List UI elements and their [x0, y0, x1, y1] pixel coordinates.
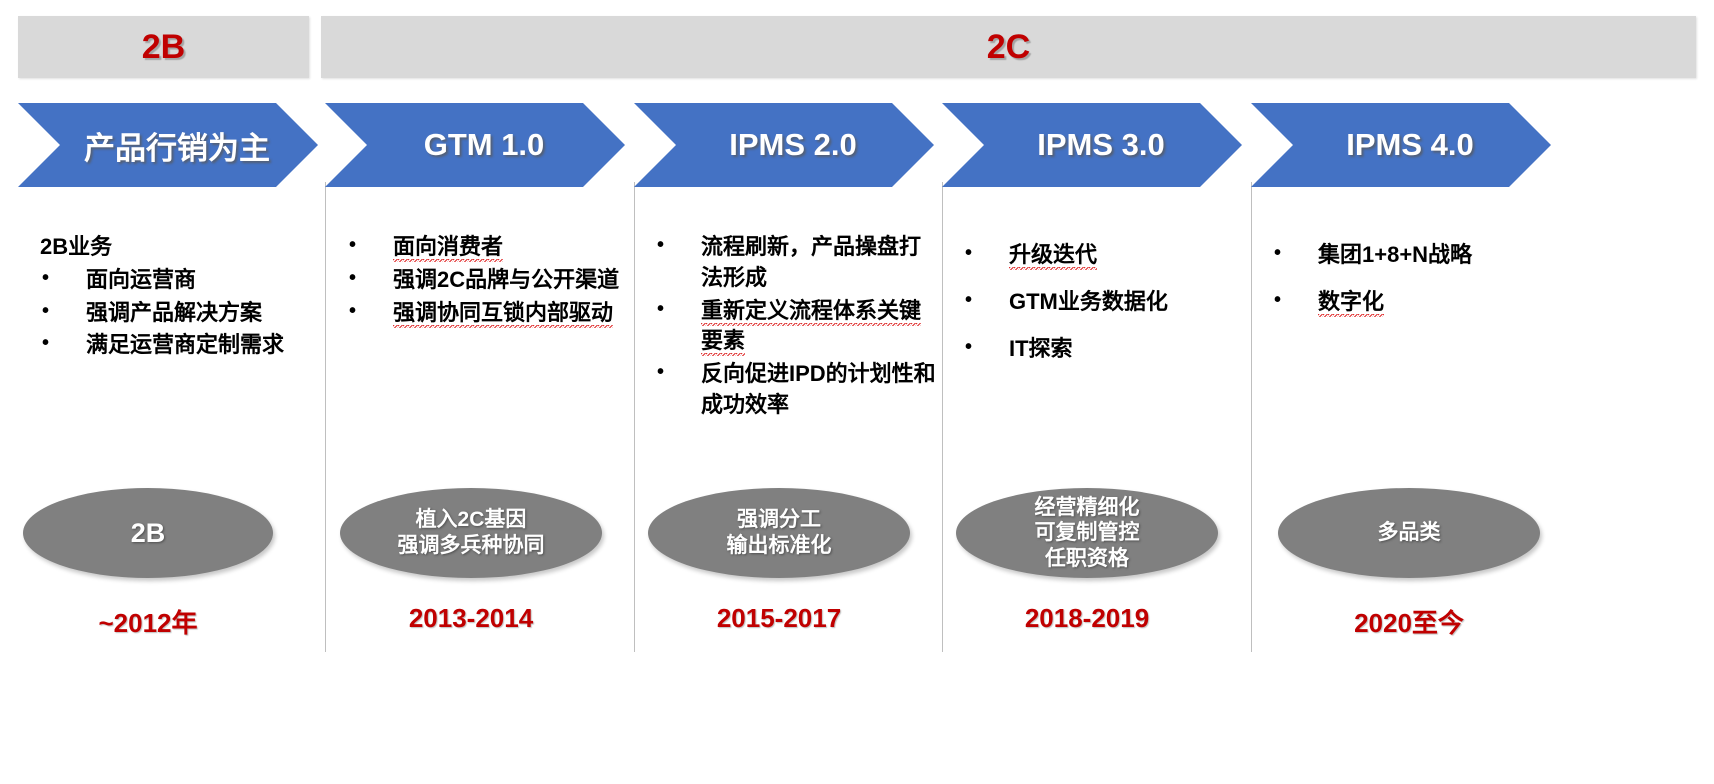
- year-label-5: 2020至今: [1278, 603, 1540, 640]
- outcome-badge-2: 植入2C基因 强调多兵种协同: [340, 488, 602, 578]
- column-body-2: 面向消费者 强调2C品牌与公开渠道 强调协同互锁内部驱动: [347, 232, 629, 330]
- column-divider-4: [1251, 182, 1252, 652]
- phase-chevron-label-2: GTM 1.0: [406, 127, 545, 163]
- year-label-2: 2013-2014: [340, 603, 602, 634]
- list-item: GTM业务数据化: [963, 287, 1245, 318]
- column-bullet-list-2: 面向消费者 强调2C品牌与公开渠道 强调协同互锁内部驱动: [347, 232, 629, 328]
- segment-bar-2b: 2B: [18, 16, 309, 78]
- year-label-1: ~2012年: [23, 603, 273, 640]
- phase-chevron-5[interactable]: IPMS 4.0: [1251, 103, 1551, 187]
- phase-chevron-label-3: IPMS 2.0: [711, 127, 857, 163]
- segment-label-2b: 2B: [142, 28, 185, 67]
- segment-bar-2c: 2C: [321, 16, 1696, 78]
- outcome-badge-5: 多品类: [1278, 488, 1540, 578]
- column-body-1: 2B业务 面向运营商 强调产品解决方案 满足运营商定制需求: [40, 232, 312, 363]
- list-item: 集团1+8+N战略: [1272, 240, 1572, 271]
- list-item: 强调产品解决方案: [40, 298, 312, 329]
- column-bullet-list-4: 升级迭代 GTM业务数据化 IT探索: [963, 240, 1245, 364]
- outcome-badge-text-4: 经营精细化 可复制管控 任职资格: [1035, 495, 1140, 572]
- phase-chevron-4[interactable]: IPMS 3.0: [942, 103, 1242, 187]
- list-item: 满足运营商定制需求: [40, 330, 312, 361]
- outcome-badge-text-5: 多品类: [1378, 520, 1441, 546]
- column-bullet-list-3: 流程刷新，产品操盘打法形成 重新定义流程体系关键要素 反向促进IPD的计划性和成…: [655, 232, 937, 421]
- outcome-badge-1: 2B: [23, 488, 273, 578]
- column-body-4: 升级迭代 GTM业务数据化 IT探索: [963, 240, 1245, 366]
- column-divider-3: [942, 182, 943, 652]
- column-bullet-list-5: 集团1+8+N战略 数字化: [1272, 240, 1572, 318]
- timeline-slide: 2B 2C 产品行销为主 2B业务 面向运营商 强调产品解决方案 满足运营商定制…: [0, 0, 1714, 784]
- phase-chevron-1[interactable]: 产品行销为主: [18, 103, 318, 187]
- phase-chevron-label-5: IPMS 4.0: [1328, 127, 1474, 163]
- segment-label-2c: 2C: [987, 28, 1030, 67]
- column-body-5: 集团1+8+N战略 数字化: [1272, 240, 1572, 320]
- list-item: 面向运营商: [40, 265, 312, 296]
- list-item: 强调协同互锁内部驱动: [347, 298, 629, 329]
- outcome-badge-text-3: 强调分工 输出标准化: [727, 507, 832, 558]
- year-label-4: 2018-2019: [956, 603, 1218, 634]
- list-item: 反向促进IPD的计划性和成功效率: [655, 359, 937, 421]
- list-item: IT探索: [963, 334, 1245, 365]
- list-item: 数字化: [1272, 287, 1572, 318]
- phase-chevron-3[interactable]: IPMS 2.0: [634, 103, 934, 187]
- column-divider-2: [634, 182, 635, 652]
- outcome-badge-text-1: 2B: [131, 517, 166, 550]
- outcome-badge-text-2: 植入2C基因 强调多兵种协同: [398, 507, 545, 558]
- column-body-3: 流程刷新，产品操盘打法形成 重新定义流程体系关键要素 反向促进IPD的计划性和成…: [655, 232, 937, 423]
- list-item: 流程刷新，产品操盘打法形成: [655, 232, 937, 294]
- column-divider-1: [325, 182, 326, 652]
- phase-chevron-2[interactable]: GTM 1.0: [325, 103, 625, 187]
- column-bullet-list-1: 面向运营商 强调产品解决方案 满足运营商定制需求: [40, 265, 312, 361]
- year-label-3: 2015-2017: [648, 603, 910, 634]
- list-item: 面向消费者: [347, 232, 629, 263]
- list-item: 升级迭代: [963, 240, 1245, 271]
- phase-chevron-label-4: IPMS 3.0: [1019, 127, 1165, 163]
- outcome-badge-4: 经营精细化 可复制管控 任职资格: [956, 488, 1218, 578]
- list-item: 重新定义流程体系关键要素: [655, 296, 937, 358]
- list-item: 强调2C品牌与公开渠道: [347, 265, 629, 296]
- phase-chevron-label-1: 产品行销为主: [66, 123, 270, 168]
- outcome-badge-3: 强调分工 输出标准化: [648, 488, 910, 578]
- column-lead-1: 2B业务: [40, 232, 312, 263]
